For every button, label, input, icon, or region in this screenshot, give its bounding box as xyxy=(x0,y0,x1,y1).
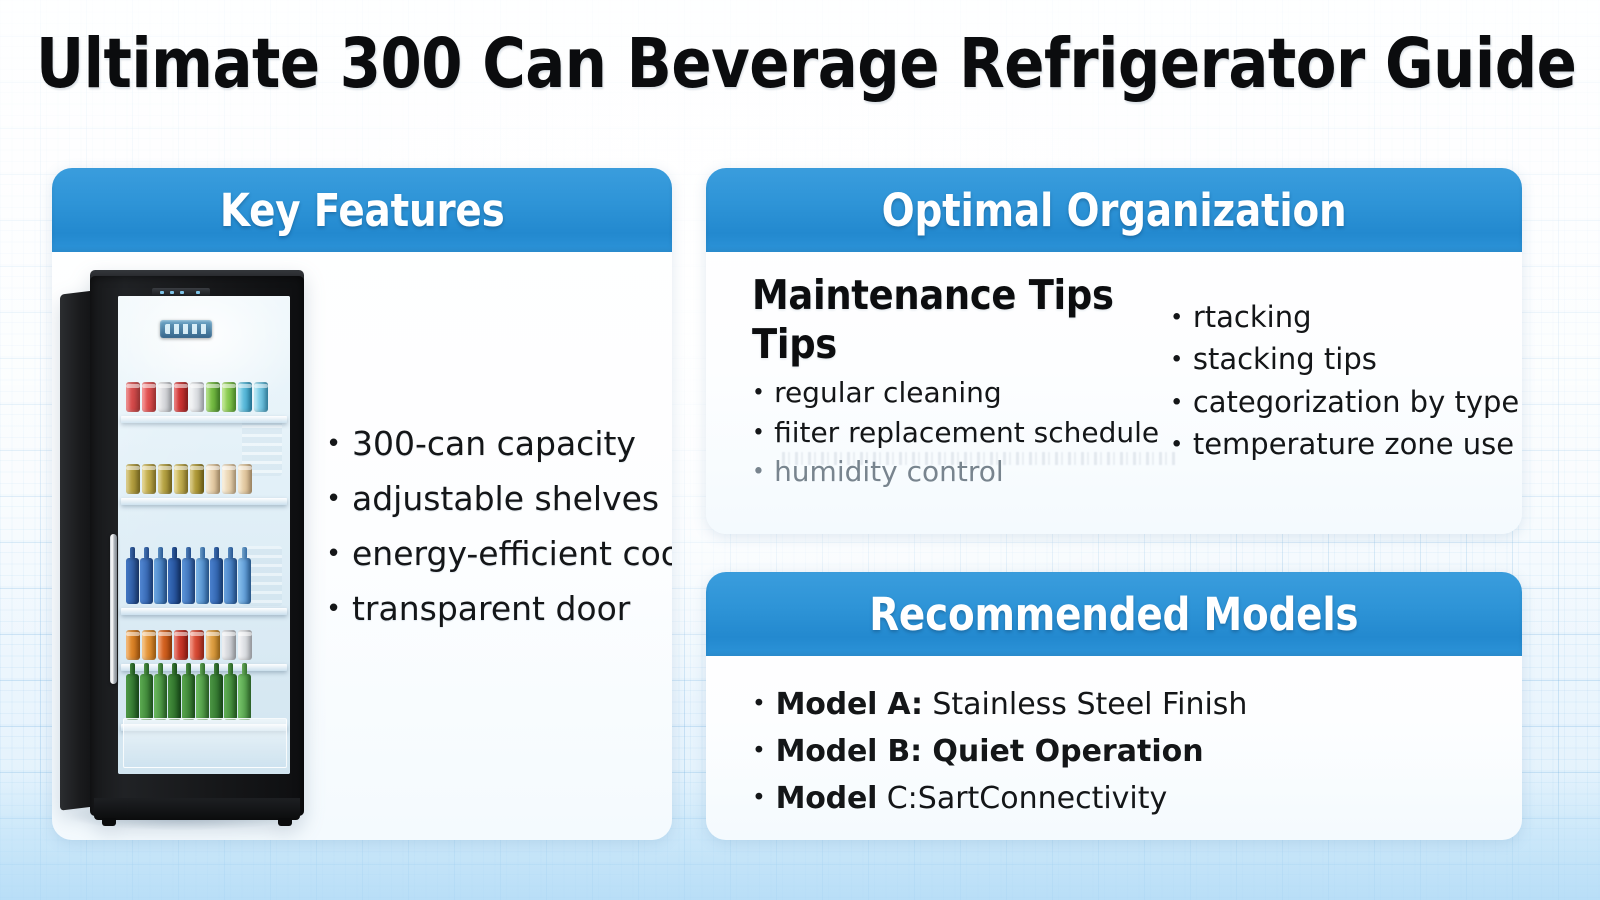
bullet-icon: • xyxy=(1170,306,1183,329)
refrigerator-bottom-drawer xyxy=(123,718,287,768)
list-item: • adjustable shelves xyxy=(326,477,672,521)
list-item: • categorization by type xyxy=(1170,381,1519,423)
shelf-1 xyxy=(121,416,287,423)
list-item: • Model B: Quiet Operation xyxy=(752,729,1492,774)
list-item: • transparent door xyxy=(326,587,672,631)
model-label: Model A: xyxy=(776,687,923,722)
list-item-text: Model C:SartConnectivity xyxy=(776,776,1168,821)
organization-tips-column: • rtacking • stacking tips • categorizat… xyxy=(1170,274,1519,534)
bullet-icon: • xyxy=(752,786,766,809)
card-key-features-title: Key Features xyxy=(220,184,505,237)
infographic-canvas: Ultimate 300 Can Beverage Refrigerator G… xyxy=(0,0,1600,900)
shelf-2 xyxy=(121,498,287,505)
recommended-models-list: • Model A: Stainless Steel Finish • Mode… xyxy=(752,682,1492,821)
list-item-label: fiiter replacement schedule xyxy=(774,413,1159,453)
card-recommended-models-header: Recommended Models xyxy=(706,572,1522,656)
bullet-icon: • xyxy=(326,487,341,513)
card-key-features: Key Features xyxy=(52,168,672,840)
shelf-row-cans-top xyxy=(126,382,268,412)
door-handle xyxy=(110,534,117,684)
list-item-label: temperature zone use xyxy=(1193,423,1514,465)
model-label: Model B: xyxy=(776,734,922,769)
list-item: • energy-efficient cooling xyxy=(326,532,672,576)
list-item: • Model C:SartConnectivity xyxy=(752,776,1492,821)
bullet-icon: • xyxy=(326,597,341,623)
shelf-row-cans-gold xyxy=(126,464,252,494)
list-item: • Model A: Stainless Steel Finish xyxy=(752,682,1492,727)
list-item: • temperature zone use xyxy=(1170,423,1519,465)
list-item-label: stacking tips xyxy=(1193,338,1377,380)
list-item-label: 300-can capacity xyxy=(352,422,636,466)
list-item-text: Model B: Quiet Operation xyxy=(776,729,1204,774)
temperature-display xyxy=(160,320,212,338)
refrigerator-base xyxy=(94,798,300,820)
refrigerator-photo xyxy=(52,252,320,840)
list-item-label: regular cleaning xyxy=(774,373,1002,413)
card-optimal-organization-body: Maintenance Tips Tips • regular cleaning… xyxy=(706,252,1522,534)
shelf-3 xyxy=(121,608,287,615)
card-recommended-models-title: Recommended Models xyxy=(869,588,1358,641)
bullet-icon: • xyxy=(752,739,766,762)
card-recommended-models: Recommended Models • Model A: Stainless … xyxy=(706,572,1522,840)
card-key-features-body: • 300-can capacity • adjustable shelves … xyxy=(52,252,672,840)
maintenance-tips-subtitle-line1: Maintenance Tips xyxy=(752,274,1170,317)
list-item-label: adjustable shelves xyxy=(352,477,659,521)
foot-right xyxy=(278,818,292,826)
list-item: • stacking tips xyxy=(1170,338,1519,380)
bullet-icon: • xyxy=(752,462,765,484)
list-item-label: rtacking xyxy=(1193,296,1312,338)
maintenance-tips-column: Maintenance Tips Tips • regular cleaning… xyxy=(752,274,1170,534)
bullet-icon: • xyxy=(752,422,765,444)
list-item-label: transparent door xyxy=(352,587,630,631)
refrigerator-glass-door xyxy=(118,296,290,774)
maintenance-tips-bullets: • regular cleaning • fiiter replacement … xyxy=(752,373,1170,492)
maintenance-tips-subtitle-line2: Tips xyxy=(752,323,1170,366)
card-key-features-header: Key Features xyxy=(52,168,672,252)
refrigerator-illustration xyxy=(60,266,308,826)
shelf-row-bottles-green xyxy=(126,674,251,720)
list-item-text: Model A: Stainless Steel Finish xyxy=(776,682,1248,727)
card-optimal-organization-title: Optimal Organization xyxy=(882,184,1347,237)
list-item-label: energy-efficient cooling xyxy=(352,532,672,576)
shelf-row-bottles-blue xyxy=(126,558,251,604)
shelf-row-cans-orange xyxy=(126,630,252,660)
bullet-icon: • xyxy=(752,692,766,715)
list-item-label: categorization by type xyxy=(1193,381,1519,423)
key-features-bullets: • 300-can capacity • adjustable shelves … xyxy=(326,422,672,642)
model-label: Model xyxy=(776,781,878,816)
list-item: • fiiter replacement schedule xyxy=(752,413,1170,453)
page-title: Ultimate 300 Can Beverage Refrigerator G… xyxy=(36,24,1564,104)
organization-tips-bullets: • rtacking • stacking tips • categorizat… xyxy=(1170,296,1519,465)
control-panel xyxy=(152,288,210,296)
card-recommended-models-body: • Model A: Stainless Steel Finish • Mode… xyxy=(706,656,1522,821)
foot-left xyxy=(102,818,116,826)
card-optimal-organization-header: Optimal Organization xyxy=(706,168,1522,252)
bullet-icon: • xyxy=(1170,391,1183,414)
list-item: • regular cleaning xyxy=(752,373,1170,413)
bullet-icon: • xyxy=(326,432,341,458)
bullet-icon: • xyxy=(1170,349,1183,372)
bullet-icon: • xyxy=(752,382,765,404)
bullet-icon: • xyxy=(326,542,341,568)
list-item: • rtacking xyxy=(1170,296,1519,338)
key-features-list-container: • 300-can capacity • adjustable shelves … xyxy=(320,252,672,840)
model-description: Quiet Operation xyxy=(922,734,1204,769)
ghost-text-artifact xyxy=(782,452,1178,465)
card-optimal-organization: Optimal Organization Maintenance Tips Ti… xyxy=(706,168,1522,534)
list-item: • 300-can capacity xyxy=(326,422,672,466)
model-description: Stainless Steel Finish xyxy=(923,687,1248,722)
model-description: C:SartConnectivity xyxy=(877,781,1167,816)
